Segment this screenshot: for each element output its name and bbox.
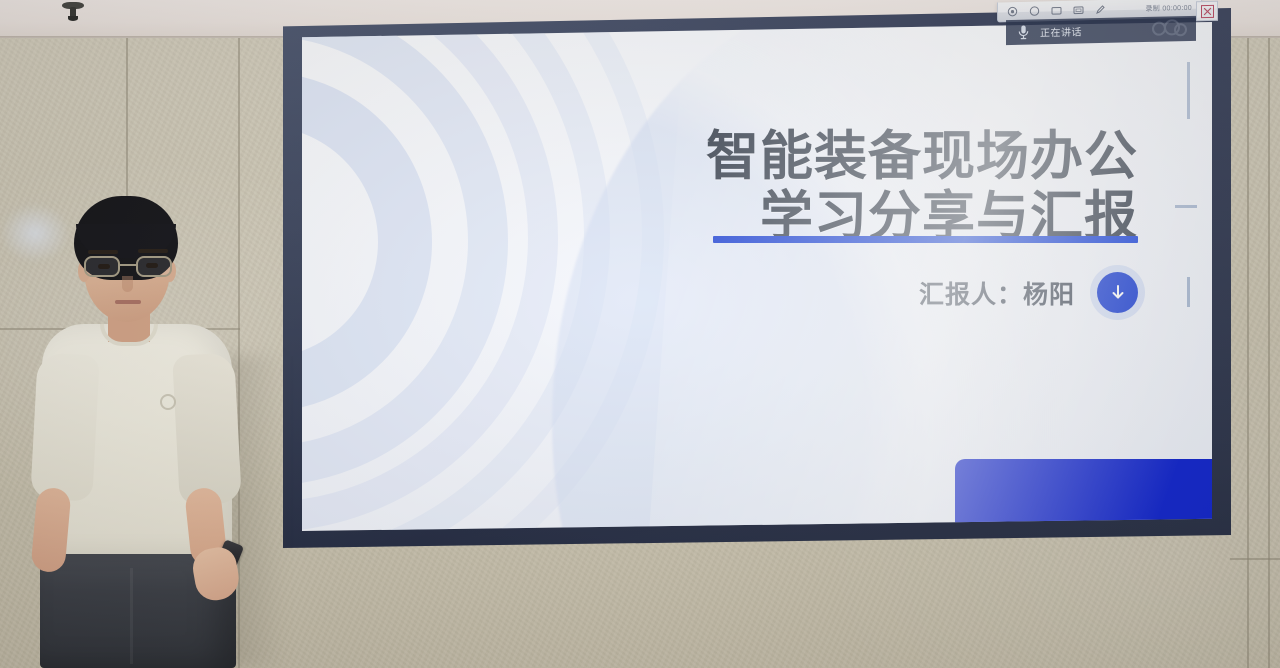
speaking-toast-text: 正在讲话	[1040, 23, 1082, 39]
pants-crease	[130, 568, 133, 664]
toolbar-label: 录制 00:00:00	[1146, 2, 1193, 13]
shirt-sleeve-left	[30, 352, 100, 501]
decorative-tick	[1175, 205, 1197, 208]
pen-icon[interactable]	[1095, 4, 1106, 15]
eyeglasses	[82, 256, 174, 278]
presenter-eyebrow-right	[138, 249, 168, 253]
presenter-eye-right	[146, 263, 158, 268]
shirt-sleeve-right	[172, 352, 242, 505]
slide-title: 智能装备现场办公 学习分享与汇报	[618, 127, 1138, 248]
arrow-down-icon	[1110, 284, 1126, 302]
presentation-room-scene: 智能装备现场办公 学习分享与汇报 汇报人：杨阳	[0, 0, 1280, 668]
presenter	[12, 196, 262, 668]
slide-content: 智能装备现场办公 学习分享与汇报 汇报人：杨阳	[302, 22, 1212, 531]
presenter-label: 汇报人：杨阳	[919, 275, 1075, 311]
record-icon[interactable]	[1007, 6, 1018, 17]
slide-surface: 智能装备现场办公 学习分享与汇报 汇报人：杨阳	[302, 22, 1212, 531]
presenter-eye-left	[98, 264, 110, 269]
wall-grout-line	[1268, 38, 1270, 668]
fire-sprinkler-icon	[62, 2, 84, 22]
speaking-toast: 正在讲话	[1006, 16, 1196, 45]
presenter-row: 汇报人：杨阳	[919, 272, 1138, 313]
close-button[interactable]	[1196, 1, 1218, 21]
toast-decor	[1150, 19, 1190, 40]
wall-grout-line	[1230, 558, 1280, 560]
title-underline	[713, 236, 1138, 243]
microphone-icon	[1018, 25, 1029, 40]
close-icon	[1201, 4, 1214, 17]
slide-title-block: 智能装备现场办公 学习分享与汇报	[618, 127, 1138, 248]
projection-screen: 智能装备现场办公 学习分享与汇报 汇报人：杨阳	[283, 8, 1231, 548]
shirt-logo	[160, 394, 176, 410]
decorative-tick	[1187, 62, 1190, 119]
circle-icon[interactable]	[1029, 5, 1040, 16]
presenter-eyebrow-left	[88, 250, 118, 254]
decorative-tick	[1187, 277, 1190, 307]
capture-icon[interactable]	[1051, 5, 1062, 16]
screenshot-icon[interactable]	[1073, 4, 1084, 15]
wall-grout-line	[1247, 38, 1249, 668]
presenter-nose	[122, 276, 133, 292]
presenter-mouth	[115, 300, 141, 304]
arrow-down-button[interactable]	[1097, 272, 1138, 313]
